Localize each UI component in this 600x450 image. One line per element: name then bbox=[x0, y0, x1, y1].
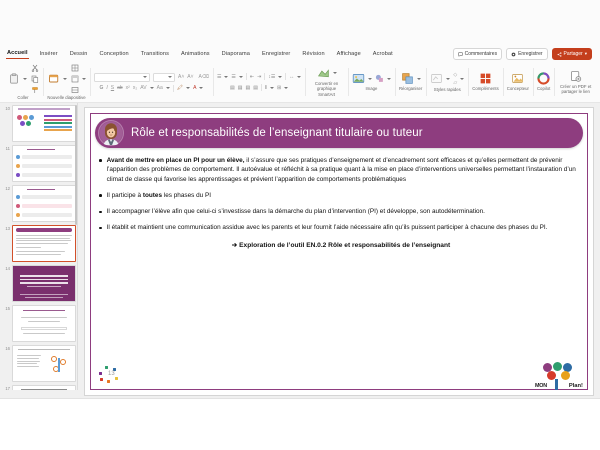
section-icon[interactable] bbox=[70, 85, 79, 94]
subscript-icon[interactable]: x₂ bbox=[133, 85, 137, 91]
addins-row bbox=[479, 72, 492, 85]
increase-indent-icon[interactable]: ⇥ bbox=[257, 74, 261, 80]
quick-styles-icon[interactable] bbox=[430, 72, 443, 85]
paste-icon[interactable] bbox=[7, 72, 20, 85]
smartart-row bbox=[317, 67, 337, 80]
logo-person-icon bbox=[555, 379, 558, 390]
thumbnail-slide-13-selected[interactable] bbox=[12, 225, 76, 262]
thumbnail-slide-17[interactable] bbox=[12, 385, 76, 390]
paragraph-row-1: ☰ ☰ ⇤ ⇥ ↕☰ ↔ bbox=[217, 73, 301, 80]
bullet-bold-1: Avant de mettre en place un PI pour un é… bbox=[107, 157, 245, 164]
bullet-dot-icon bbox=[99, 227, 102, 230]
ribbon-group-copilot: Copilot bbox=[533, 63, 554, 101]
designer-label: Concepteur bbox=[507, 86, 529, 91]
divider bbox=[246, 73, 247, 80]
coller-row bbox=[7, 63, 39, 94]
bullet-pre-2: Il participe à bbox=[107, 192, 143, 199]
image-icon[interactable] bbox=[352, 72, 365, 85]
bullet-item: Avant de mettre en place un PI pour un é… bbox=[99, 156, 583, 184]
case-chevron-down-icon[interactable] bbox=[166, 87, 170, 89]
decrease-font-icon[interactable]: A˅ bbox=[187, 74, 193, 80]
thumbnail-number: 13 bbox=[2, 225, 10, 231]
bullet-dot-icon bbox=[99, 159, 102, 162]
bullet-rest-2: les phases du PI bbox=[162, 192, 211, 199]
image-chevron-down-icon[interactable] bbox=[368, 78, 372, 80]
paste-chevron-down-icon[interactable] bbox=[23, 78, 27, 80]
bullet-item: Il établit et maintient une communicatio… bbox=[99, 223, 583, 232]
font-size-select[interactable] bbox=[153, 73, 175, 82]
align-text-icon[interactable]: ⊞ bbox=[277, 85, 281, 91]
clear-formatting-icon[interactable]: A⌫ bbox=[199, 74, 209, 80]
record-icon bbox=[511, 52, 516, 57]
thumbnail-number: 12 bbox=[2, 185, 10, 191]
ribbon-group-paragraphe: ☰ ☰ ⇤ ⇥ ↕☰ ↔ ▤ ▤ ▤ ▤ ⫴ ⊞ bbox=[213, 63, 305, 101]
share-button[interactable]: Partager ▾ bbox=[552, 48, 592, 59]
thumbnail-number: 11 bbox=[2, 145, 10, 151]
effects-chevron-down-icon[interactable] bbox=[460, 78, 464, 80]
bullet-item: Il accompagner l’élève afin que celui-ci… bbox=[99, 207, 583, 216]
aligntext-chevron-down-icon[interactable] bbox=[284, 87, 288, 89]
bullet-text-3: Il accompagner l’élève afin que celui-ci… bbox=[107, 207, 485, 216]
ribbon-group-smartart: Convertir en graphique SmartArt bbox=[305, 63, 348, 101]
quick-styles-label: Styles rapides bbox=[434, 87, 461, 92]
direction-chevron-down-icon[interactable] bbox=[297, 76, 301, 78]
thumbnail-row[interactable]: 11 bbox=[2, 145, 76, 182]
image-label: Image bbox=[365, 86, 377, 91]
ribbon-group-concepteur: Concepteur bbox=[503, 63, 533, 101]
thumbnail-number: 14 bbox=[2, 265, 10, 271]
exploration-callout: ➔ Exploration de l’outil EN.0.2 Rôle et … bbox=[99, 241, 583, 249]
tab-animations[interactable]: Animations bbox=[180, 50, 211, 59]
new-slide-row bbox=[47, 63, 86, 94]
thumbnail-slide-10[interactable] bbox=[12, 105, 76, 142]
thumbnail-scrollbar[interactable] bbox=[75, 105, 77, 225]
thumbnail-row[interactable]: 14 bbox=[2, 265, 76, 302]
bullet-dot-icon bbox=[99, 211, 102, 214]
font-family-select[interactable] bbox=[94, 73, 150, 82]
section-chevron-down-icon[interactable] bbox=[82, 78, 86, 80]
copilot-label: Copilot bbox=[537, 86, 550, 91]
ribbon-right-actions: Commentaires Enregistrer Partager ▾ bbox=[453, 48, 594, 59]
paragraph-row-2: ▤ ▤ ▤ ▤ ⫴ ⊞ bbox=[230, 84, 288, 91]
tab-acrobat[interactable]: Acrobat bbox=[372, 50, 394, 59]
new-slide-chevron-down-icon[interactable] bbox=[63, 78, 67, 80]
tab-transitions[interactable]: Transitions bbox=[140, 50, 170, 59]
align-left-icon[interactable]: ▤ bbox=[230, 85, 235, 91]
quick-styles-row: ◇ ▱ bbox=[430, 72, 464, 86]
menu-item-list: Accueil Insérer Dessin Conception Transi… bbox=[6, 49, 394, 59]
divider bbox=[285, 73, 286, 80]
ribbon-group-reorganiser: Réorganiser bbox=[395, 63, 426, 101]
thumbnail-row[interactable]: 16 bbox=[2, 345, 76, 382]
align-center-icon[interactable]: ▤ bbox=[238, 85, 243, 91]
shapes-chevron-down-icon[interactable] bbox=[387, 78, 391, 80]
thumbnail-row[interactable]: 12 bbox=[2, 185, 76, 222]
mon-plan-logo: MON Plan! bbox=[535, 363, 583, 389]
font-family-chevron-down-icon[interactable] bbox=[143, 76, 147, 78]
font-color-chevron-down-icon[interactable] bbox=[199, 87, 203, 89]
copy-icon[interactable] bbox=[30, 74, 39, 83]
arrange-label: Réorganiser bbox=[399, 86, 422, 91]
line-spacing-icon[interactable]: ↕☰ bbox=[268, 74, 275, 80]
share-chevron-down-icon[interactable]: ▾ bbox=[585, 51, 587, 57]
effects-stack: ◇ ▱ bbox=[453, 72, 457, 86]
comment-icon bbox=[458, 52, 463, 57]
slide-number-text: 13 bbox=[108, 371, 115, 377]
thumbnail-slide-14[interactable] bbox=[12, 265, 76, 302]
bullet-bold-2: toutes bbox=[143, 192, 162, 199]
ribbon-group-nouvelle-diapositive: Nouvelle diapositive bbox=[43, 63, 90, 101]
thumbnail-row[interactable]: 15 bbox=[2, 305, 76, 342]
tab-enregistrer[interactable]: Enregistrer bbox=[261, 50, 291, 59]
bullet-item: Il participe à toutes les phases du PI bbox=[99, 191, 583, 200]
tab-dessin[interactable]: Dessin bbox=[69, 50, 89, 59]
decrease-indent-icon[interactable]: ⇤ bbox=[250, 74, 254, 80]
font-color-icon[interactable]: A bbox=[193, 85, 196, 91]
record-label: Enregistrer bbox=[518, 51, 542, 57]
thumbnail-slide-15[interactable] bbox=[12, 305, 76, 342]
thumbnail-row[interactable]: 10 bbox=[2, 105, 76, 142]
powerpoint-window: Accueil Insérer Dessin Conception Transi… bbox=[0, 0, 600, 399]
shape-outline-icon[interactable]: ▱ bbox=[453, 80, 457, 86]
thumbnail-number: 17 bbox=[2, 385, 10, 390]
slide-thumbnail-panel[interactable]: 10 bbox=[0, 103, 78, 390]
font-size-chevron-down-icon[interactable] bbox=[168, 76, 172, 78]
title-bar bbox=[0, 0, 600, 47]
thumb-title-bar bbox=[16, 228, 72, 232]
share-icon bbox=[557, 52, 562, 57]
ribbon-group-coller: Coller bbox=[3, 63, 43, 101]
slide-stage: Rôle et responsabilités de l’enseignant … bbox=[78, 103, 600, 390]
numbered-list-icon[interactable]: ☰ bbox=[231, 74, 235, 80]
new-slide-label: Nouvelle diapositive bbox=[47, 95, 85, 100]
font-style-row: G I S ab x² x₂ AV Aa 🖍 A bbox=[99, 85, 203, 92]
slide-number-badge: 13 bbox=[99, 365, 127, 385]
tab-diaporama[interactable]: Diaporama bbox=[221, 50, 251, 59]
strikethrough-icon[interactable]: ab bbox=[117, 85, 123, 91]
bold-icon[interactable]: G bbox=[99, 85, 103, 91]
cut-icon[interactable] bbox=[30, 63, 39, 72]
thumbnail-number: 16 bbox=[2, 345, 10, 351]
ribbon-group-image: Image bbox=[348, 63, 395, 101]
teacher-avatar-icon bbox=[98, 120, 124, 146]
justify-icon[interactable]: ▤ bbox=[253, 85, 258, 91]
record-button[interactable]: Enregistrer bbox=[506, 48, 547, 59]
arrange-row bbox=[401, 72, 421, 85]
thumbnail-number: 15 bbox=[2, 305, 10, 311]
thumbnail-slide-16[interactable] bbox=[12, 345, 76, 382]
font-row: A˄ A˅ A⌫ bbox=[94, 73, 209, 82]
reset-icon[interactable] bbox=[70, 74, 79, 83]
italic-icon[interactable]: I bbox=[106, 85, 107, 91]
bullet-dot-icon bbox=[99, 194, 102, 197]
superscript-icon[interactable]: x² bbox=[126, 85, 130, 91]
share-label: Partager bbox=[564, 51, 583, 57]
columns-icon[interactable]: ⫴ bbox=[265, 85, 267, 91]
logo-plan-text: Plan! bbox=[569, 383, 583, 389]
divider bbox=[173, 85, 174, 92]
clipboard-extra-stack bbox=[30, 63, 39, 94]
current-slide[interactable]: Rôle et responsabilités de l’enseignant … bbox=[84, 107, 594, 396]
logo-head-orange bbox=[561, 371, 570, 380]
paste-stack bbox=[7, 72, 20, 85]
change-case-icon[interactable]: Aa bbox=[157, 85, 163, 91]
columns-chevron-down-icon[interactable] bbox=[270, 87, 274, 89]
slide-border bbox=[90, 113, 588, 390]
addins-label: Compléments bbox=[472, 86, 499, 91]
ribbon-group-police: A˄ A˅ A⌫ G I S ab x² x₂ AV Aa 🖍 A bbox=[90, 63, 213, 101]
copilot-icon[interactable] bbox=[537, 72, 550, 85]
divider bbox=[264, 73, 265, 80]
format-painter-icon[interactable] bbox=[30, 85, 39, 94]
tab-affichage[interactable]: Affichage bbox=[336, 50, 362, 59]
layout-stack bbox=[70, 63, 79, 94]
pdf-share-row bbox=[569, 70, 582, 83]
layout-icon[interactable] bbox=[70, 63, 79, 72]
thumbnail-slide-11[interactable] bbox=[12, 145, 76, 182]
slide-title-banner: Rôle et responsabilités de l’enseignant … bbox=[95, 118, 583, 148]
new-slide-icon[interactable] bbox=[47, 72, 60, 85]
logo-head-green bbox=[553, 362, 562, 371]
pdf-share-label: Créer un PDF et partager le lien bbox=[558, 84, 593, 95]
character-spacing-icon[interactable]: AV bbox=[140, 85, 146, 91]
bullet-text-2: Il participe à toutes les phases du PI bbox=[107, 191, 211, 200]
ribbon-group-complements: Compléments bbox=[468, 63, 503, 101]
editor-body: 10 bbox=[0, 103, 600, 390]
ribbon-toolbar: Coller bbox=[0, 61, 600, 103]
divider bbox=[261, 84, 262, 91]
ribbon-group-pdf-share: Créer un PDF et partager le lien bbox=[554, 63, 597, 101]
tab-accueil[interactable]: Accueil bbox=[6, 49, 29, 59]
smartart-icon[interactable] bbox=[317, 67, 330, 80]
panel-divider bbox=[77, 103, 78, 390]
numbering-chevron-down-icon[interactable] bbox=[239, 76, 243, 78]
smartart-chevron-down-icon[interactable] bbox=[333, 72, 337, 74]
thumbnail-row[interactable]: 17 bbox=[2, 385, 76, 390]
ribbon-group-styles-rapides: ◇ ▱ Styles rapides bbox=[426, 63, 468, 101]
highlight-chevron-down-icon[interactable] bbox=[186, 87, 190, 89]
smartart-label: Convertir en graphique SmartArt bbox=[309, 81, 344, 97]
logo-mon-text: MON bbox=[535, 383, 547, 389]
tab-inserer[interactable]: Insérer bbox=[39, 50, 59, 59]
bullet-text-1: Avant de mettre en place un PI pour un é… bbox=[107, 156, 583, 184]
bullets-chevron-down-icon[interactable] bbox=[224, 76, 228, 78]
underline-icon[interactable]: S bbox=[111, 85, 114, 91]
copilot-row bbox=[537, 72, 550, 85]
comments-button[interactable]: Commentaires bbox=[453, 48, 503, 59]
arrange-icon[interactable] bbox=[401, 72, 414, 85]
thumbnail-slide-12[interactable] bbox=[12, 185, 76, 222]
image-row bbox=[352, 72, 391, 85]
increase-font-icon[interactable]: A˄ bbox=[178, 74, 184, 80]
text-direction-icon[interactable]: ↔ bbox=[289, 74, 294, 80]
thumbnail-number: 10 bbox=[2, 105, 10, 111]
ribbon-tabs: Accueil Insérer Dessin Conception Transi… bbox=[0, 47, 600, 61]
pdf-share-icon[interactable] bbox=[569, 70, 582, 83]
slide-content: Avant de mettre en place un PI pour un é… bbox=[99, 156, 583, 249]
thumbnail-row[interactable]: 13 bbox=[2, 225, 76, 262]
shapes-icon[interactable] bbox=[375, 74, 384, 83]
spacing-chevron-down-icon[interactable] bbox=[150, 87, 154, 89]
arrange-chevron-down-icon[interactable] bbox=[417, 78, 421, 80]
addins-icon[interactable] bbox=[479, 72, 492, 85]
page-title: Rôle et responsabilités de l’enseignant … bbox=[131, 127, 423, 139]
tab-revision[interactable]: Révision bbox=[301, 50, 325, 59]
linespacing-chevron-down-icon[interactable] bbox=[278, 76, 282, 78]
align-right-icon[interactable]: ▤ bbox=[245, 85, 250, 91]
designer-icon[interactable] bbox=[511, 72, 524, 85]
tab-conception[interactable]: Conception bbox=[98, 50, 129, 59]
comments-label: Commentaires bbox=[465, 51, 498, 57]
designer-row bbox=[511, 72, 524, 85]
quickstyles-chevron-down-icon[interactable] bbox=[446, 78, 450, 80]
text-highlight-icon[interactable]: 🖍 bbox=[177, 85, 183, 91]
bullet-text-4: Il établit et maintient une communicatio… bbox=[107, 223, 548, 232]
shape-fill-icon[interactable]: ◇ bbox=[453, 72, 457, 78]
coller-label: Coller bbox=[17, 95, 28, 100]
bulleted-list-icon[interactable]: ☰ bbox=[217, 74, 221, 80]
